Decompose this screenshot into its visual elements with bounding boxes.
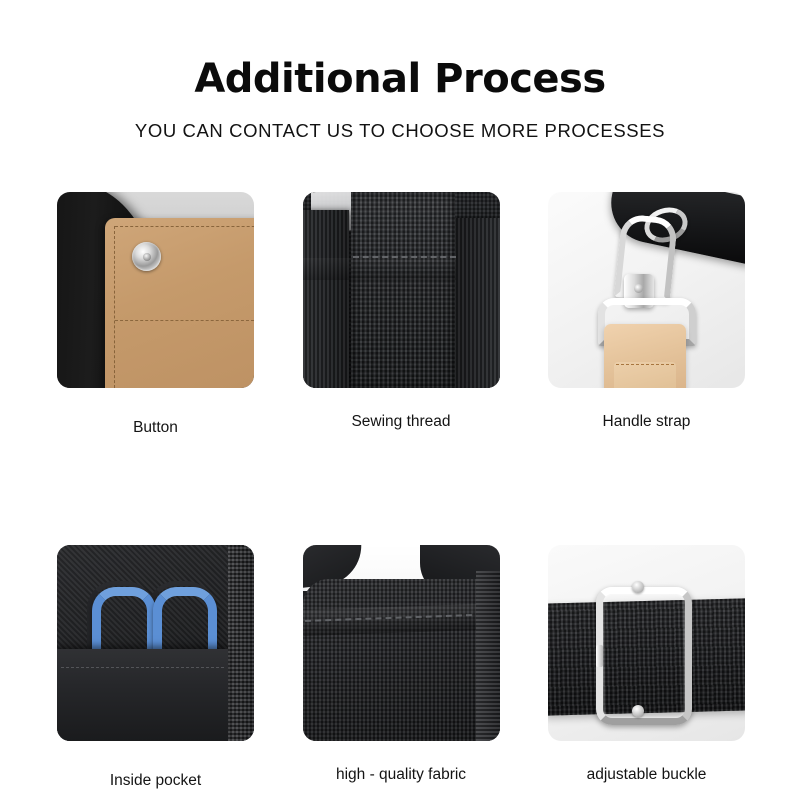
stitch-line xyxy=(353,256,456,258)
process-cell-caption: adjustable buckle xyxy=(548,741,745,785)
pocket-side-edge xyxy=(228,545,254,741)
fabric-photo[interactable] xyxy=(303,545,500,741)
fabric-side-edge xyxy=(476,571,500,741)
buckle-center-bar xyxy=(596,645,603,667)
sewing-thread-photo[interactable] xyxy=(303,192,500,388)
page-subtitle: YOU CAN CONTACT US TO CHOOSE MORE PROCES… xyxy=(0,103,800,143)
process-cell-sewing-thread[interactable]: Sewing thread xyxy=(303,192,500,438)
fabric-flap xyxy=(303,258,456,280)
tan-leather-panel xyxy=(105,218,254,388)
clasp-screw-icon xyxy=(634,284,643,293)
handle-strap-photo[interactable] xyxy=(548,192,745,388)
process-cell-caption: Button xyxy=(57,388,254,438)
process-cell-inside-pocket[interactable]: Inside pocket xyxy=(57,545,254,791)
leather-tab-stitch xyxy=(616,364,674,365)
center-webbing-strap xyxy=(351,192,455,388)
slide-buckle-icon xyxy=(596,587,692,725)
pocket-front-panel xyxy=(57,649,228,741)
buckle-photo[interactable] xyxy=(548,545,745,741)
page-title: Additional Process xyxy=(0,0,800,103)
leather-tab-patch xyxy=(614,362,676,388)
process-cell-caption: Sewing thread xyxy=(303,388,500,432)
grid-row: Button Sewing thread xyxy=(57,192,745,438)
buckle-pin-bottom xyxy=(632,705,644,717)
process-cell-button[interactable]: Button xyxy=(57,192,254,438)
process-cell-caption: high - quality fabric xyxy=(303,741,500,785)
process-cell-caption: Inside pocket xyxy=(57,741,254,791)
buckle-pin-top xyxy=(632,581,644,593)
process-cell-handle-strap[interactable]: Handle strap xyxy=(548,192,745,438)
snap-button-icon xyxy=(132,242,161,271)
infographic-page: Additional Process YOU CAN CONTACT US TO… xyxy=(0,0,800,800)
inside-pocket-photo[interactable] xyxy=(57,545,254,741)
process-grid: Button Sewing thread xyxy=(57,192,745,791)
process-cell-fabric[interactable]: high - quality fabric xyxy=(303,545,500,791)
left-webbing-band xyxy=(303,210,349,388)
pocket-stitch-line xyxy=(61,667,224,668)
button-photo[interactable] xyxy=(57,192,254,388)
grid-row: Inside pocket high - quality fabric xyxy=(57,545,745,791)
header: Additional Process YOU CAN CONTACT US TO… xyxy=(0,0,800,143)
right-webbing-band xyxy=(454,218,500,388)
process-cell-buckle[interactable]: adjustable buckle xyxy=(548,545,745,791)
process-cell-caption: Handle strap xyxy=(548,388,745,432)
leather-seam-stitch xyxy=(115,320,254,321)
